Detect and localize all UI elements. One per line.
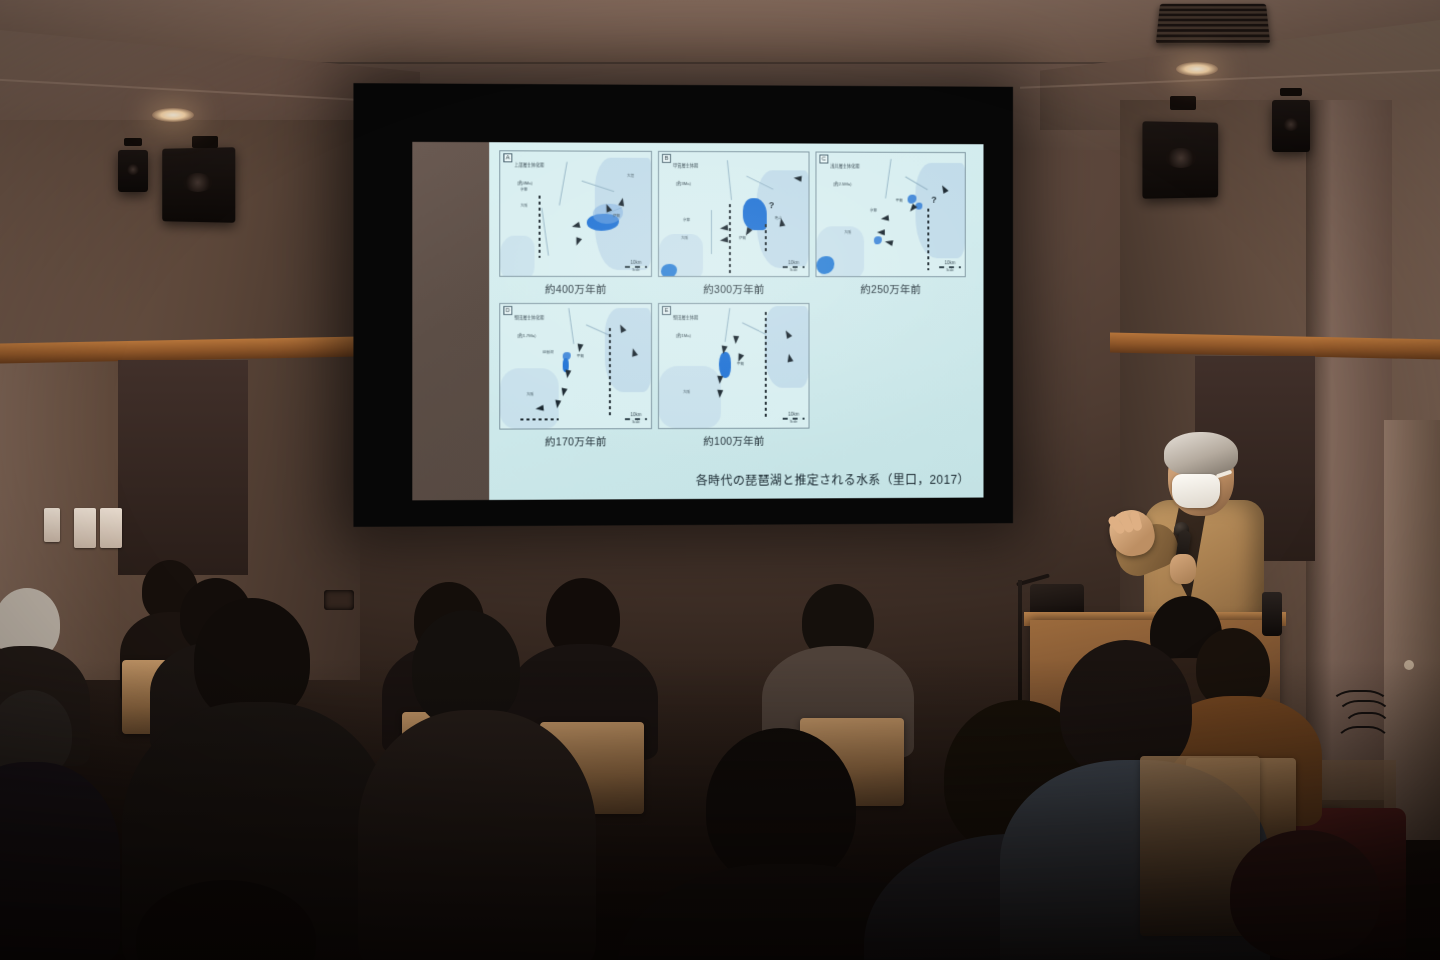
scale-bar-b: 10km Scale bbox=[783, 260, 805, 272]
map-panel-d: 大阪 琵琶湖 甲賀 D 堅田層主体化期 （約1.7Ma） bbox=[499, 303, 652, 430]
panel-letter: B bbox=[662, 154, 671, 163]
presenter-hair bbox=[1164, 432, 1238, 476]
presenter-face-mask bbox=[1172, 474, 1220, 508]
presenter-mic-hand bbox=[1170, 554, 1196, 584]
speaker-mount-left-inner bbox=[192, 136, 218, 148]
map-question-mark-c: ? bbox=[931, 195, 936, 205]
ceiling-speaker-left-outer bbox=[118, 150, 148, 192]
map-cell-empty bbox=[815, 303, 965, 449]
year-label-e: 約100万年前 bbox=[658, 429, 810, 449]
panel-tag-b: B 甲賀層主体期 （約3Ma） bbox=[662, 154, 698, 190]
scale-bar-a: 10km Scale bbox=[625, 260, 647, 272]
downlight-left bbox=[152, 108, 194, 122]
ceiling-speaker-left-inner bbox=[162, 147, 235, 223]
year-label-b: 約300万年前 bbox=[658, 277, 810, 297]
panel-title: 堅田層主体期 bbox=[673, 315, 698, 320]
projected-slide: 京都 大阪 伊賀 大垣 A 上部層主体化期 （約4Ma） bbox=[489, 142, 983, 500]
panel-title: 甲賀層主体期 bbox=[673, 163, 698, 168]
ceiling-speaker-right-outer bbox=[1272, 100, 1310, 152]
map-row-bottom: 大阪 琵琶湖 甲賀 D 堅田層主体化期 （約1.7Ma） bbox=[499, 303, 975, 450]
wall-alcove-left bbox=[118, 360, 248, 575]
year-label-d: 約170万年前 bbox=[499, 429, 652, 450]
ceiling-speaker-right-inner bbox=[1142, 121, 1218, 198]
scale-bar-d: 10km Scale bbox=[625, 412, 647, 424]
map-panel-a: 京都 大阪 伊賀 大垣 A 上部層主体化期 （約4Ma） bbox=[499, 150, 652, 277]
projection-screen: 京都 大阪 伊賀 大垣 A 上部層主体化期 （約4Ma） bbox=[353, 83, 1013, 527]
water-bottle[interactable] bbox=[1262, 592, 1282, 636]
map-cell-a: 京都 大阪 伊賀 大垣 A 上部層主体化期 （約4Ma） bbox=[499, 150, 652, 297]
slide-caption: 各時代の琵琶湖と推定される水系（里口，2017） bbox=[696, 471, 970, 489]
speaker-mount-left-outer bbox=[124, 138, 142, 146]
panel-tag-a: A 上部層主体化期 （約4Ma） bbox=[503, 153, 544, 189]
air-vent-right bbox=[1156, 4, 1270, 44]
map-cell-d: 大阪 琵琶湖 甲賀 D 堅田層主体化期 （約1.7Ma） bbox=[499, 303, 652, 450]
panel-letter: E bbox=[662, 306, 671, 315]
scale-unit: Scale bbox=[783, 420, 805, 424]
panel-age: （約2.5Ma） bbox=[830, 181, 854, 186]
panel-age: （約3Ma） bbox=[673, 181, 694, 186]
scale-bar-c: 10km Scale bbox=[939, 260, 961, 272]
map-cell-c: ? 大阪 京都 甲賀 C 浅井層主体化期 （約2.5Ma） bbox=[815, 152, 965, 298]
microphone-stand bbox=[1018, 580, 1022, 700]
panel-tag-e: E 堅田層主体期 （約1Ma） bbox=[662, 306, 698, 342]
panel-age: （約4Ma） bbox=[514, 180, 535, 185]
intercom-panel[interactable] bbox=[100, 508, 122, 548]
scale-value: 10km bbox=[783, 260, 805, 265]
cable-bundle bbox=[1330, 690, 1420, 810]
panel-letter: D bbox=[503, 306, 512, 315]
panel-age: （約1Ma） bbox=[673, 333, 694, 338]
panel-letter: C bbox=[819, 155, 828, 164]
map-cell-e: 大阪 甲賀 E 堅田層主体期 （約1Ma） bbox=[658, 303, 810, 449]
scale-unit: Scale bbox=[625, 420, 647, 424]
map-panel-b: ? 京都 大阪 伊賀 亀山 B 甲賀層主体期 （約3Ma） bbox=[658, 151, 810, 277]
light-switch-plate-1[interactable] bbox=[44, 508, 60, 542]
scale-unit: Scale bbox=[783, 268, 805, 272]
scale-value: 10km bbox=[625, 412, 647, 417]
screen-surface: 京都 大阪 伊賀 大垣 A 上部層主体化期 （約4Ma） bbox=[412, 142, 983, 500]
slide-map-grid: 京都 大阪 伊賀 大垣 A 上部層主体化期 （約4Ma） bbox=[499, 150, 975, 449]
panel-title: 堅田層主体化期 bbox=[514, 315, 544, 320]
lecture-hall-scene: 京都 大阪 伊賀 大垣 A 上部層主体化期 （約4Ma） bbox=[0, 0, 1440, 960]
scale-unit: Scale bbox=[625, 268, 647, 272]
wall-speaker-grille bbox=[324, 590, 354, 610]
map-cell-b: ? 京都 大阪 伊賀 亀山 B 甲賀層主体期 （約3Ma） bbox=[658, 151, 810, 297]
speaker-mount-right-outer bbox=[1280, 88, 1302, 96]
map-row-top: 京都 大阪 伊賀 大垣 A 上部層主体化期 （約4Ma） bbox=[499, 150, 975, 297]
panel-title: 上部層主体化期 bbox=[514, 162, 544, 167]
year-label-a: 約400万年前 bbox=[499, 277, 652, 297]
panel-age: （約1.7Ma） bbox=[514, 333, 538, 338]
downlight-right bbox=[1176, 62, 1218, 76]
scale-value: 10km bbox=[783, 412, 805, 417]
panel-letter: A bbox=[503, 153, 512, 162]
panel-title: 浅井層主体化期 bbox=[830, 164, 859, 169]
map-question-mark-b: ? bbox=[769, 200, 774, 210]
map-panel-c: ? 大阪 京都 甲賀 C 浅井層主体化期 （約2.5Ma） bbox=[815, 152, 965, 278]
panel-tag-d: D 堅田層主体化期 （約1.7Ma） bbox=[503, 306, 544, 342]
scale-value: 10km bbox=[625, 260, 647, 265]
speaker-mount-right-inner bbox=[1170, 96, 1196, 110]
year-label-c: 約250万年前 bbox=[815, 277, 965, 297]
scale-value: 10km bbox=[939, 260, 961, 265]
map-panel-e: 大阪 甲賀 E 堅田層主体期 （約1Ma） bbox=[658, 303, 810, 429]
scale-bar-e: 10km Scale bbox=[783, 412, 805, 424]
light-switch-plate-2[interactable] bbox=[74, 508, 96, 548]
scale-unit: Scale bbox=[939, 268, 961, 272]
panel-tag-c: C 浅井層主体化期 （約2.5Ma） bbox=[819, 155, 859, 191]
door-knob[interactable] bbox=[1404, 660, 1414, 670]
